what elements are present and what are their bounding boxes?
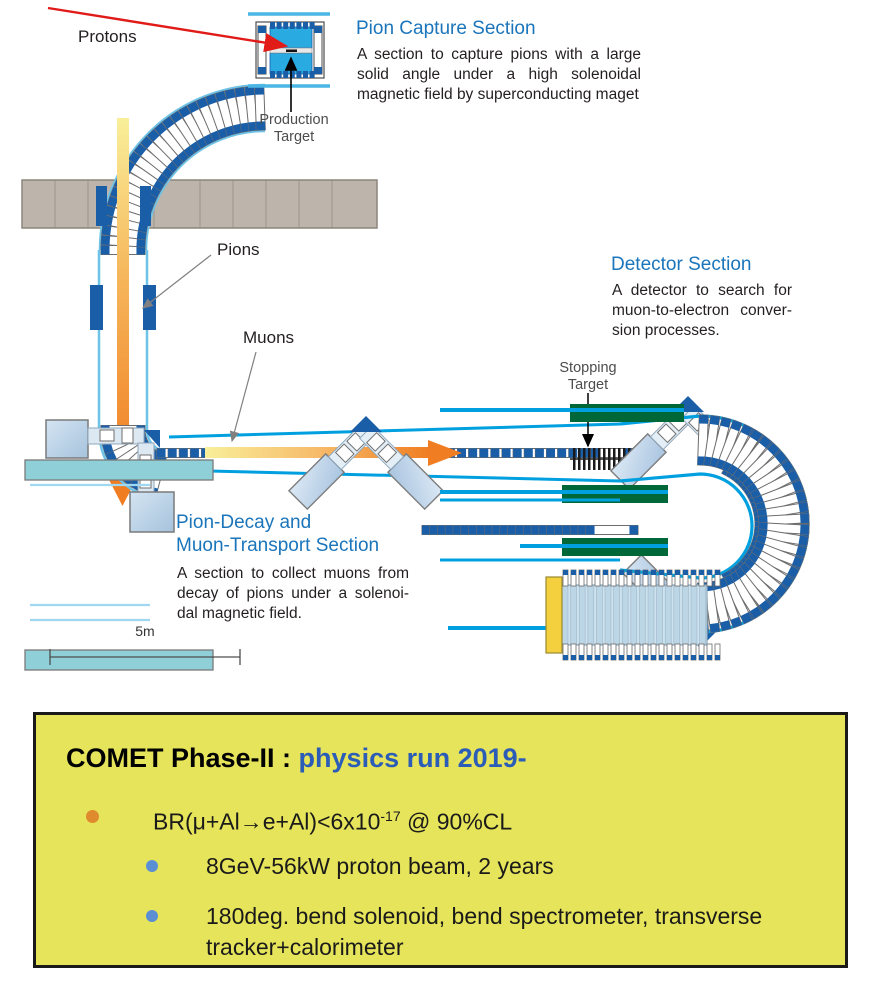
label-protons: Protons [78, 27, 137, 47]
summary-title-black: COMET Phase-II : [66, 743, 299, 773]
label-pions: Pions [217, 240, 260, 260]
bullet-marker-blue-icon [146, 860, 158, 872]
summary-bullet-1-text: BR(μ+Al→e+Al)<6x10-17 @ 90%CL [153, 801, 512, 838]
label-scale-value: 5m [108, 623, 182, 640]
section-title-detector: Detector Section [611, 253, 871, 276]
figure-canvas: Protons Production Target Pions Muons St… [0, 0, 882, 986]
beamline-schematic [0, 0, 882, 700]
label-stopping-target: Stopping Target [542, 360, 634, 394]
summary-box: COMET Phase-II : physics run 2019- BR(μ+… [33, 712, 848, 968]
summary-bullet-2-text: 8GeV-56kW proton beam, 2 years [206, 851, 554, 882]
summary-bullet-3-text: 180deg. bend solenoid, bend spectrometer… [206, 901, 846, 963]
summary-title: COMET Phase-II : physics run 2019- [66, 743, 527, 774]
summary-title-blue: physics run 2019- [299, 743, 527, 773]
summary-bullet-1: BR(μ+Al→e+Al)<6x10-17 @ 90%CL [86, 801, 512, 838]
label-muons: Muons [243, 328, 294, 348]
shielding-wall [22, 180, 377, 228]
br-formula-pre: BR(μ+Al→e+Al)<6x10 [153, 809, 380, 835]
muons-leader-line [232, 352, 256, 441]
summary-bullet-3: 180deg. bend solenoid, bend spectrometer… [146, 901, 846, 963]
section-body-detector: A detector to search for muon-to-electro… [612, 281, 792, 341]
section-body-pion-capture: A section to capture pions with a large … [357, 45, 641, 105]
pions-leader-line [143, 255, 211, 308]
bullet-marker-orange-icon [86, 810, 99, 823]
label-production-target: Production Target [248, 112, 340, 146]
bullet-marker-blue-icon [146, 910, 158, 922]
summary-bullet-2: 8GeV-56kW proton beam, 2 years [146, 851, 554, 882]
section-title-pion-decay: Pion-Decay and Muon-Transport Section [176, 511, 476, 557]
br-formula-post: @ 90%CL [401, 809, 513, 835]
section-title-pion-capture: Pion Capture Section [356, 17, 656, 40]
section-body-pion-decay: A section to collect muons from decay of… [177, 564, 409, 624]
br-formula-exponent: -17 [380, 808, 400, 824]
